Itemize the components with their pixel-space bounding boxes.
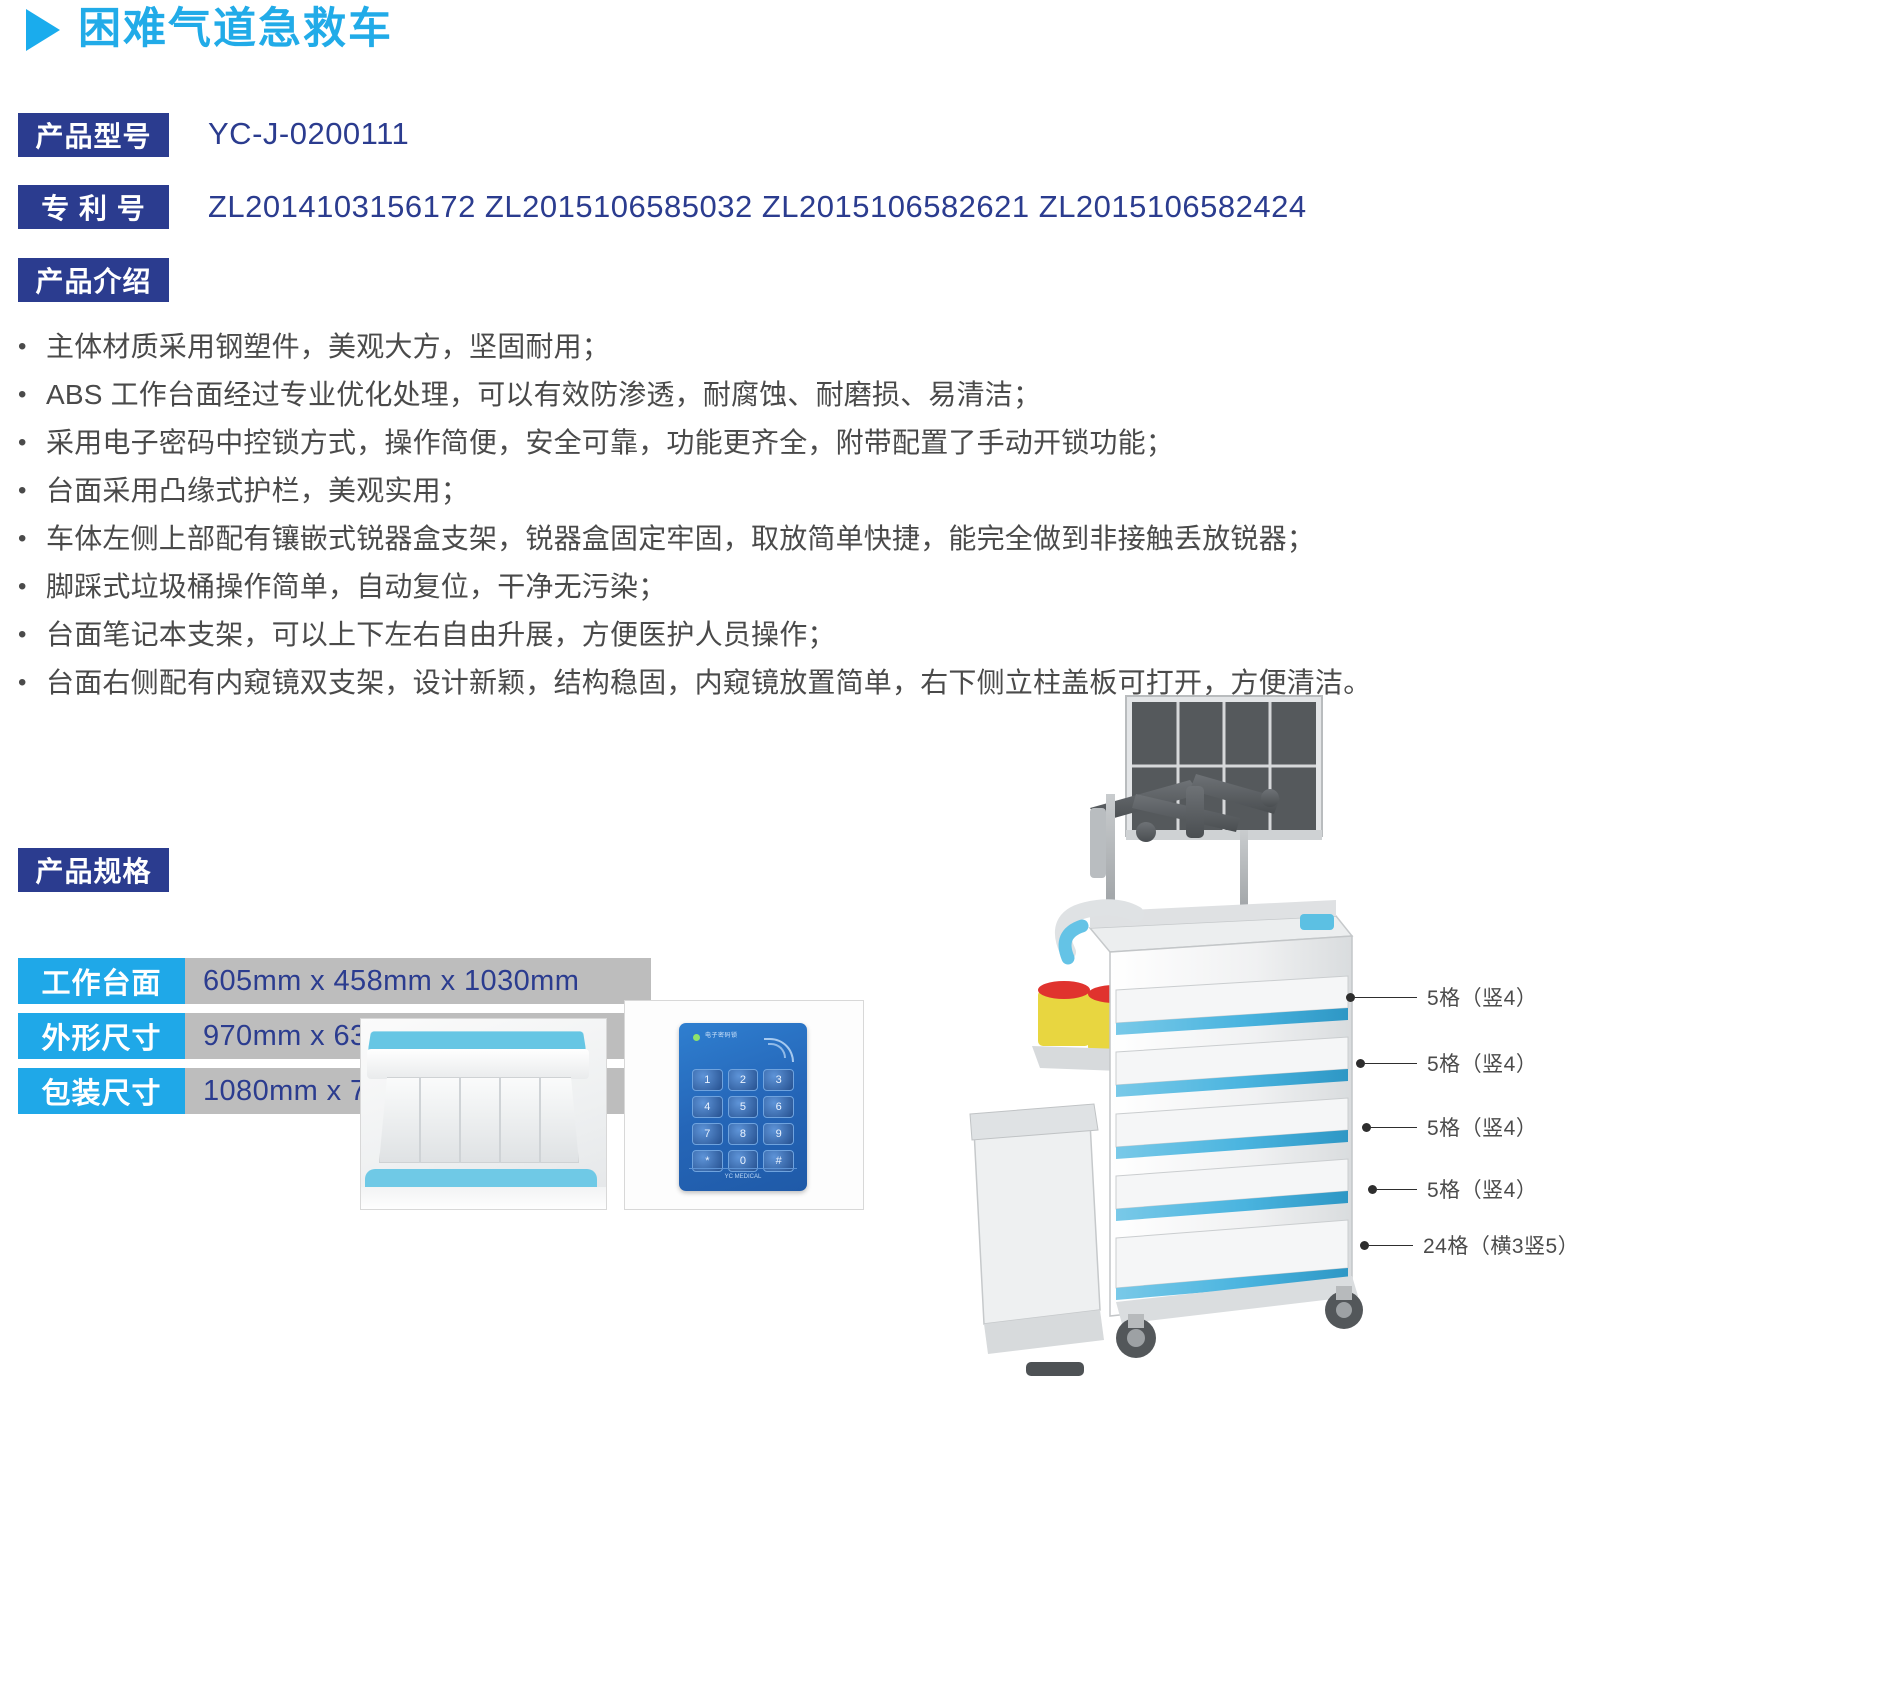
callout-leader-line: [1365, 1063, 1417, 1064]
keypad-footer-label: YC MEDICAL: [689, 1168, 797, 1184]
list-item: • 采用电子密码中控锁方式，操作简便，安全可靠，功能更齐全，附带配置了手动开锁功…: [18, 423, 1358, 462]
cart-post-left: [1106, 794, 1115, 912]
callout-row: 5格（竖4）: [1356, 1048, 1537, 1078]
callout-row: 5格（竖4）: [1368, 1174, 1537, 1204]
bullet-icon: •: [18, 663, 46, 702]
cart-tube-holder: [1090, 808, 1106, 878]
list-item-text: 台面采用凸缘式护栏，美观实用；: [46, 471, 1358, 510]
callout-leader-line: [1377, 1189, 1417, 1190]
callout-label: 5格（竖4）: [1427, 1174, 1537, 1204]
keypad-key[interactable]: 9: [763, 1123, 794, 1145]
bullet-icon: •: [18, 471, 46, 510]
callout-row: 5格（竖4）: [1362, 1112, 1537, 1142]
callout-label: 24格（横3竖5）: [1423, 1230, 1579, 1260]
section-heading-introduction: 产品介绍: [18, 258, 169, 302]
list-item: • 台面采用凸缘式护栏，美观实用；: [18, 471, 1358, 510]
spec-key: 外形尺寸: [18, 1013, 185, 1059]
keypad-key[interactable]: 1: [692, 1069, 723, 1091]
list-item: • 车体左侧上部配有镶嵌式锐器盒支架，锐器盒固定牢固，取放简单快捷，能完全做到非…: [18, 519, 1358, 558]
list-item: • 台面笔记本支架，可以上下左右自由升展，方便医护人员操作；: [18, 615, 1358, 654]
bullet-icon: •: [18, 567, 46, 606]
keypad-plate: 电子密码锁 1 2 3 4 5 6 7 8 9 * 0 # YC MEDICAL: [679, 1023, 807, 1191]
cart-drawer-stack: [1110, 936, 1352, 1316]
keypad-key[interactable]: 8: [728, 1123, 759, 1145]
list-item-text: 台面笔记本支架，可以上下左右自由升展，方便医护人员操作；: [46, 615, 1358, 654]
spec-key: 包装尺寸: [18, 1068, 185, 1114]
list-item: • 主体材质采用钢塑件，美观大方，坚固耐用；: [18, 327, 1358, 366]
keypad-key[interactable]: 6: [763, 1096, 794, 1118]
bin-foot-pedal: [1026, 1362, 1084, 1376]
keypad-key[interactable]: 3: [763, 1069, 794, 1091]
bullet-icon: •: [18, 375, 46, 414]
list-item-text: 车体左侧上部配有镶嵌式锐器盒支架，锐器盒固定牢固，取放简单快捷，能完全做到非接触…: [46, 519, 1358, 558]
keypad-key[interactable]: 7: [692, 1123, 723, 1145]
list-item-text: ABS 工作台面经过专业优化处理，可以有效防渗透，耐腐蚀、耐磨损、易清洁；: [46, 375, 1358, 414]
cart-waste-bin: [970, 1104, 1104, 1376]
keypad-key[interactable]: 5: [728, 1096, 759, 1118]
bullet-icon: •: [18, 519, 46, 558]
value-patent-number: ZL2014103156172 ZL2015106585032 ZL201510…: [208, 189, 1307, 225]
keypad-grid[interactable]: 1 2 3 4 5 6 7 8 9 * 0 #: [692, 1069, 794, 1172]
callout-row: 5格（竖4）: [1346, 982, 1537, 1012]
value-model-number: YC-J-0200111: [208, 116, 409, 152]
keypad-brand-label: 电子密码锁: [705, 1030, 738, 1039]
table-row: 工作台面 605mm x 458mm x 1030mm: [18, 958, 651, 1004]
status-led-icon: [693, 1034, 700, 1041]
list-item-text: 脚踩式垃圾桶操作简单，自动复位，干净无污染；: [46, 567, 1358, 606]
bullet-icon: •: [18, 615, 46, 654]
page-title-text: 困难气道急救车: [78, 8, 393, 51]
callout-dot-icon: [1356, 1059, 1365, 1068]
keypad-key[interactable]: 2: [728, 1069, 759, 1091]
callout-leader-line: [1371, 1127, 1417, 1128]
callout-label: 5格（竖4）: [1427, 1048, 1537, 1078]
callout-dot-icon: [1360, 1241, 1369, 1250]
callout-label: 5格（竖4）: [1427, 1112, 1537, 1142]
photo-drawer-detail: [360, 1018, 607, 1210]
list-item: • ABS 工作台面经过专业优化处理，可以有效防渗透，耐腐蚀、耐磨损、易清洁；: [18, 375, 1358, 414]
list-item-text: 采用电子密码中控锁方式，操作简便，安全可靠，功能更齐全，附带配置了手动开锁功能；: [46, 423, 1358, 462]
product-catalog-page: 困难气道急救车 产品型号 YC-J-0200111 专 利 号 ZL201410…: [0, 0, 1892, 1700]
introduction-bullet-list: • 主体材质采用钢塑件，美观大方，坚固耐用； • ABS 工作台面经过专业优化处…: [18, 327, 1358, 711]
cart-post-right: [1240, 830, 1248, 916]
section-heading-specifications: 产品规格: [18, 848, 169, 892]
page-title: 困难气道急救车: [26, 8, 393, 51]
keypad-key[interactable]: 4: [692, 1096, 723, 1118]
list-item-text: 主体材质采用钢塑件，美观大方，坚固耐用；: [46, 327, 1358, 366]
label-patent-number: 专 利 号: [18, 185, 169, 229]
callout-dot-icon: [1368, 1185, 1377, 1194]
callout-dot-icon: [1362, 1123, 1371, 1132]
callout-row: 24格（横3竖5）: [1360, 1230, 1579, 1260]
label-model-number: 产品型号: [18, 113, 169, 157]
callout-leader-line: [1355, 997, 1417, 998]
bullet-icon: •: [18, 327, 46, 366]
callout-dot-icon: [1346, 993, 1355, 1002]
triangle-right-icon: [26, 9, 60, 51]
callout-label: 5格（竖4）: [1427, 982, 1537, 1012]
photo-keypad-lock: 电子密码锁 1 2 3 4 5 6 7 8 9 * 0 # YC MEDICAL: [624, 1000, 864, 1210]
callout-leader-line: [1369, 1245, 1413, 1246]
spec-key: 工作台面: [18, 958, 185, 1004]
spec-value: 605mm x 458mm x 1030mm: [185, 958, 651, 1004]
bullet-icon: •: [18, 423, 46, 462]
list-item: • 脚踩式垃圾桶操作简单，自动复位，干净无污染；: [18, 567, 1358, 606]
